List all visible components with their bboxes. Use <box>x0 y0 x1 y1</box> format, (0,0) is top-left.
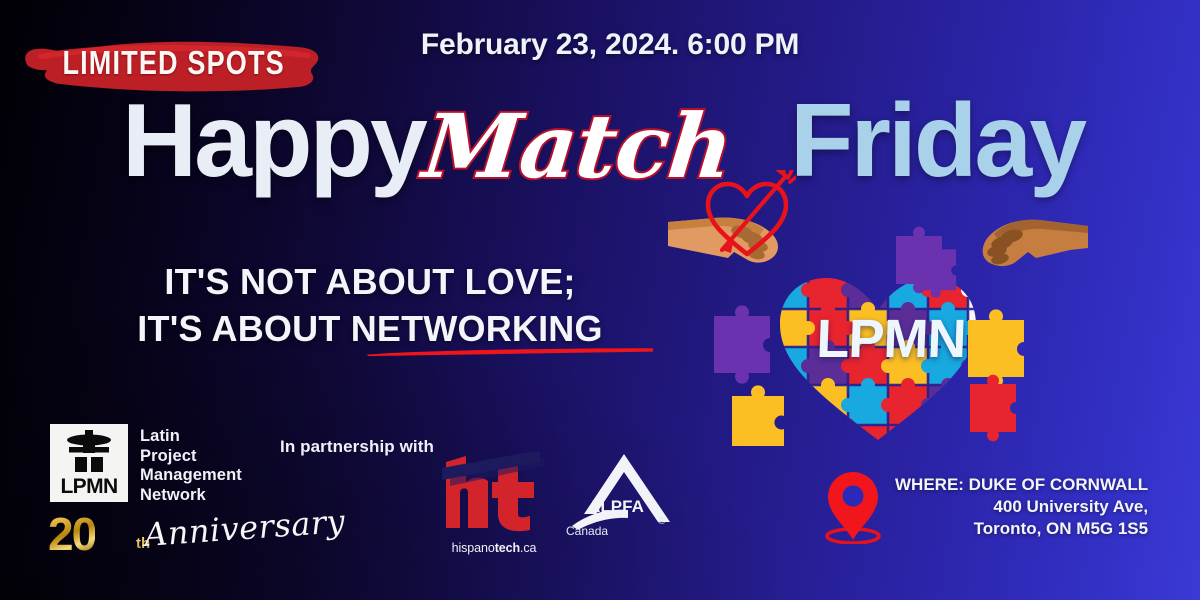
heart-lpmn-label: LPMN <box>795 308 987 370</box>
location-line-3: Toronto, ON M5G 1S5 <box>895 518 1148 540</box>
partner-logos: hispanotech.ca ALPFA ® Canada <box>440 452 674 555</box>
lpmn-mark-text: LPMN <box>60 475 117 499</box>
anniversary-word: Anniversary <box>143 502 346 554</box>
organizer-name-line-2: Project <box>140 447 242 467</box>
organizer-logo-row: LPMN Latin Project Management Network <box>50 424 264 505</box>
alpfa-registered-mark: ® <box>658 516 666 527</box>
partner-logo-hispanotech: hispanotech.ca <box>440 452 548 555</box>
hispanotech-mark-icon <box>440 452 548 534</box>
organizer-name-line-4: Network <box>140 486 242 506</box>
hispanotech-caption-tld: .ca <box>520 541 536 555</box>
heart-with-arrow-icon <box>700 170 796 262</box>
organizer-name-line-3: Management <box>140 466 242 486</box>
map-pin-icon <box>825 470 881 544</box>
alpfa-mark-text: ALPFA <box>588 497 644 516</box>
main-title: Happy Match Friday <box>0 88 1200 198</box>
organizer-name-line-1: Latin <box>140 427 242 447</box>
inukshuk-icon <box>63 430 115 474</box>
organizer-name: Latin Project Management Network <box>140 424 242 505</box>
detached-puzzle-piece-red-right <box>970 375 1016 442</box>
location-line-1: WHERE: DUKE OF CORNWALL <box>895 474 1148 496</box>
hispanotech-caption-light: hispano <box>452 541 495 555</box>
event-flyer: LIMITED SPOTS February 23, 2024. 6:00 PM… <box>0 0 1200 600</box>
location-block: WHERE: DUKE OF CORNWALL 400 University A… <box>825 470 1148 544</box>
partner-label: In partnership with <box>280 437 434 457</box>
alpfa-caption: Canada <box>566 524 608 538</box>
hand-holding-yellow-puzzle-piece-icon <box>983 220 1088 266</box>
title-word-friday: Friday <box>790 86 1084 196</box>
anniversary-number: 20 <box>48 507 95 561</box>
anniversary-badge: 20 th Anniversary <box>44 509 264 561</box>
event-date: February 23, 2024. 6:00 PM <box>360 28 860 62</box>
tagline-line-2: IT'S ABOUT NETWORKING <box>137 305 602 352</box>
tagline-line-2-emphasis: NETWORKING <box>351 308 603 349</box>
location-text: WHERE: DUKE OF CORNWALL 400 University A… <box>895 470 1148 540</box>
partner-logo-alpfa: ALPFA ® Canada <box>566 452 674 541</box>
organizer-block: LPMN Latin Project Management Network 20… <box>50 424 264 561</box>
title-word-happy: Happy <box>122 86 425 196</box>
detached-puzzle-piece-purple-left <box>714 305 770 383</box>
red-underline-stroke <box>365 347 655 356</box>
tagline-line-1: IT'S NOT ABOUT LOVE; <box>60 258 680 305</box>
location-line-2: 400 University Ave, <box>895 496 1148 518</box>
lpmn-logo-mark: LPMN <box>50 424 128 502</box>
detached-puzzle-piece-purple-top-center <box>896 227 942 294</box>
detached-puzzle-piece-yellow-bottom <box>732 385 784 446</box>
tagline: IT'S NOT ABOUT LOVE; IT'S ABOUT NETWORKI… <box>60 258 680 352</box>
title-word-match: Match <box>419 94 738 198</box>
hispanotech-caption-bold: tech <box>495 541 520 555</box>
tagline-line-2-prefix: IT'S ABOUT <box>137 308 350 349</box>
hispanotech-caption: hispanotech.ca <box>440 541 548 555</box>
